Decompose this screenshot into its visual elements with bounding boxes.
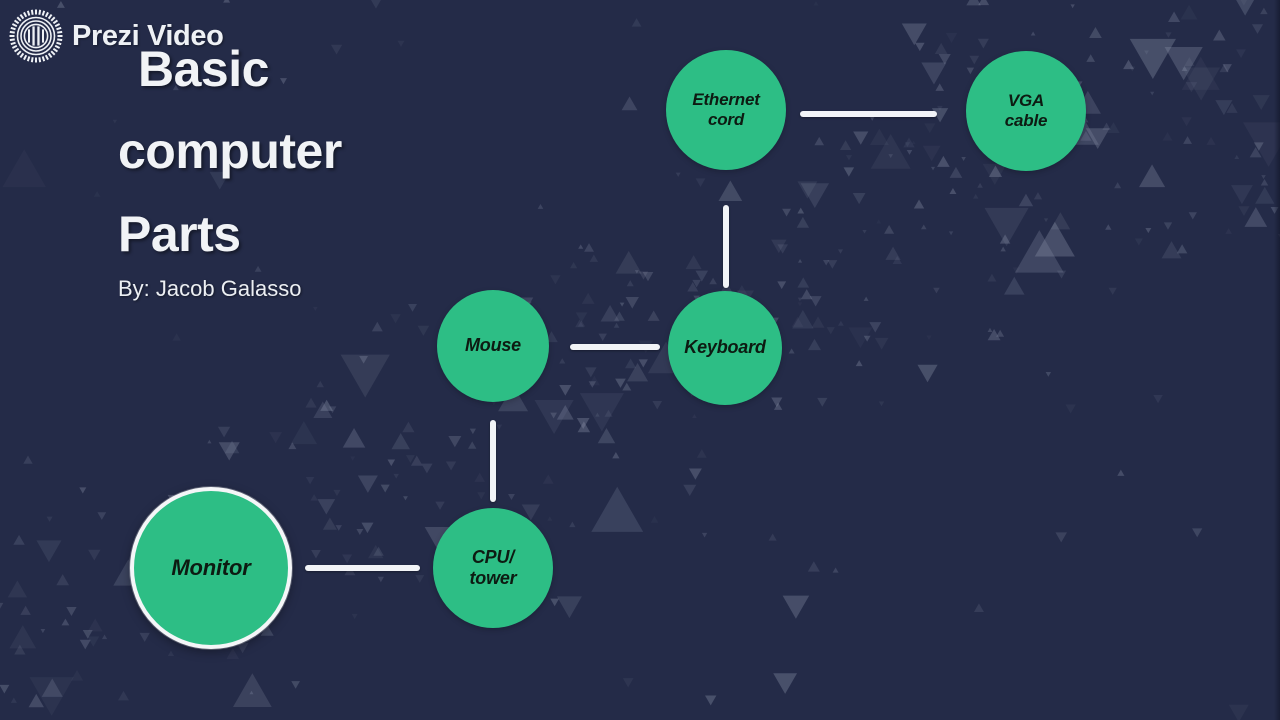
page-title-line-2: computer [118,122,342,180]
diagram-node-label: Mouse [459,335,527,356]
diagram-edge [800,111,937,117]
diagram-node-cpu-tower[interactable]: CPU/tower [433,508,553,628]
page-title-line-3: Parts [118,205,241,263]
diagram-node-label: Ethernetcord [686,90,765,130]
diagram-node-vga-cable[interactable]: VGAcable [966,51,1086,171]
diagram-node-monitor[interactable]: Monitor [130,487,292,649]
diagram-edge [570,344,660,350]
diagram-node-label: VGAcable [999,91,1053,131]
diagram-node-label: Keyboard [678,337,771,358]
diagram-node-ethernet-cord[interactable]: Ethernetcord [666,50,786,170]
author-byline: By: Jacob Galasso [118,276,301,302]
diagram-edge [305,565,420,571]
prezi-video-watermark-label: Prezi Video [72,20,223,53]
diagram-edge [490,420,496,502]
diagram-node-keyboard[interactable]: Keyboard [668,291,782,405]
prezi-video-watermark: Prezi Video [8,8,223,64]
diagram-edge [723,205,729,288]
prezi-radial-logo-icon [8,8,64,64]
diagram-node-label: Monitor [165,555,256,581]
diagram-node-label: CPU/tower [463,547,522,589]
prezi-presentation-slide: EthernetcordVGAcableMouseKeyboardMonitor… [0,0,1280,720]
